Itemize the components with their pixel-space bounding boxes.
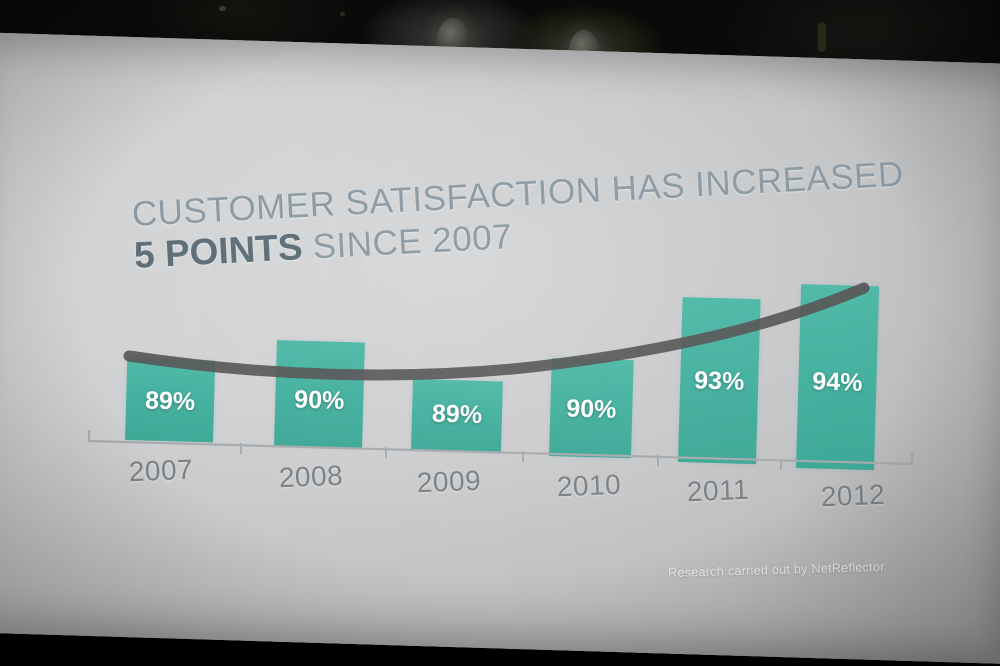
x-tick-2012: 2012	[804, 478, 901, 514]
x-tick-2010: 2010	[540, 468, 637, 504]
x-tick-2009: 2009	[400, 464, 497, 500]
slide-content: CUSTOMER SATISFACTION HAS INCREASED 5 PO…	[0, 0, 1000, 666]
x-tick-2007: 2007	[112, 453, 209, 489]
x-tick-2008: 2008	[262, 459, 359, 495]
x-tick-2011: 2011	[669, 473, 766, 509]
presentation-photo: CUSTOMER SATISFACTION HAS INCREASED 5 PO…	[0, 0, 1000, 666]
